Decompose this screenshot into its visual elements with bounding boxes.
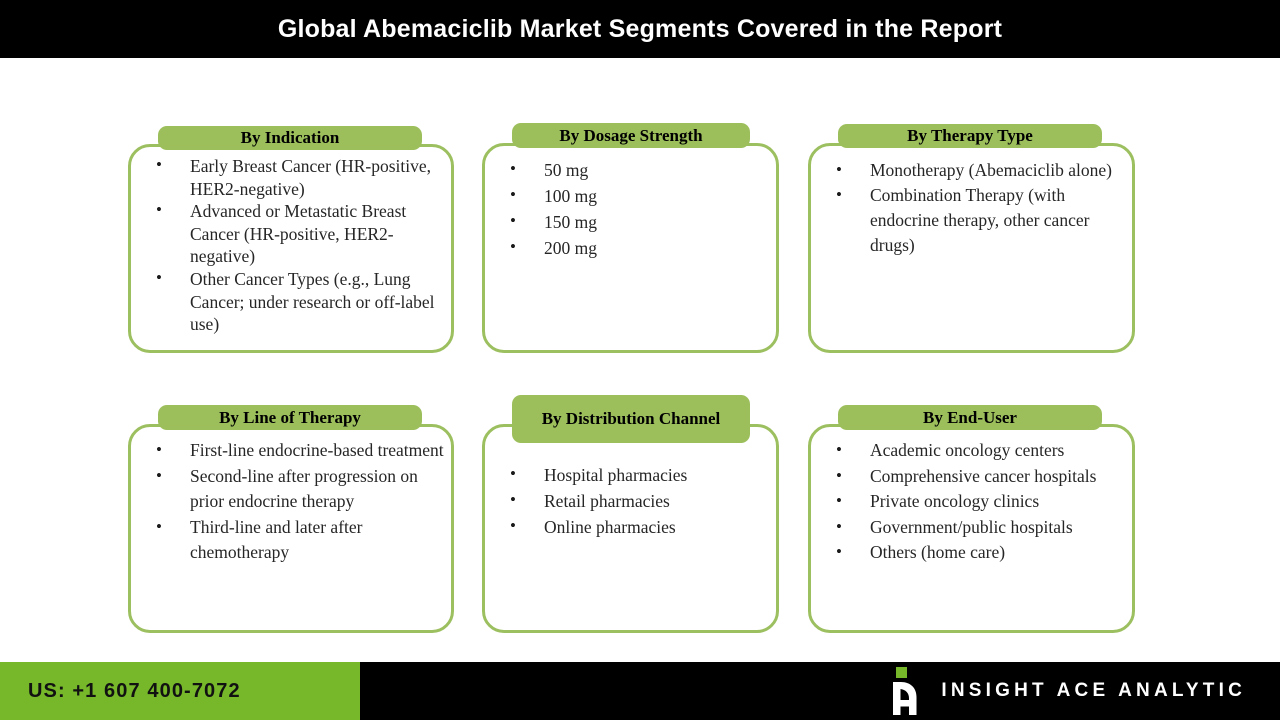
card-title-by-end-user: By End-User	[923, 408, 1017, 427]
card-body-by-end-user: Academic oncology centers Comprehensive …	[814, 438, 1134, 566]
list-item: Government/public hospitals	[814, 515, 1134, 541]
list-item: Private oncology clinics	[814, 489, 1134, 515]
list-item: Comprehensive cancer hospitals	[814, 464, 1134, 490]
brand-lockup: INSIGHT ACE ANALYTIC	[883, 662, 1246, 720]
title-bar: Global Abemaciclib Market Segments Cover…	[0, 0, 1280, 58]
bullet-list-by-therapy-type: Monotherapy (Abemaciclib alone) Combinat…	[814, 158, 1134, 258]
card-header-by-end-user: By End-User	[838, 405, 1102, 430]
bullet-list-by-distribution-channel: Hospital pharmacies Retail pharmacies On…	[488, 462, 776, 540]
bullet-list-by-line-of-therapy: First-line endocrine-based treatment Sec…	[134, 438, 450, 566]
list-item: Other Cancer Types (e.g., Lung Cancer; u…	[134, 268, 450, 336]
page-title: Global Abemaciclib Market Segments Cover…	[0, 0, 1280, 58]
bullet-list-by-end-user: Academic oncology centers Comprehensive …	[814, 438, 1134, 566]
list-item: Advanced or Metastatic Breast Cancer (HR…	[134, 200, 450, 268]
list-item: Second-line after progression on prior e…	[134, 464, 450, 515]
card-title-by-line-of-therapy: By Line of Therapy	[219, 408, 361, 427]
card-body-by-line-of-therapy: First-line endocrine-based treatment Sec…	[134, 438, 450, 566]
list-item: Monotherapy (Abemaciclib alone)	[814, 158, 1134, 183]
card-title-by-indication: By Indication	[241, 128, 340, 147]
card-body-by-dosage-strength: 50 mg 100 mg 150 mg 200 mg	[488, 157, 776, 261]
bullet-list-by-dosage-strength: 50 mg 100 mg 150 mg 200 mg	[488, 157, 776, 261]
list-item: Academic oncology centers	[814, 438, 1134, 464]
list-item: Hospital pharmacies	[488, 462, 776, 488]
card-header-by-distribution-channel: By Distribution Channel	[512, 395, 750, 443]
card-body-by-distribution-channel: Hospital pharmacies Retail pharmacies On…	[488, 462, 776, 540]
list-item: 100 mg	[488, 183, 776, 209]
list-item: Early Breast Cancer (HR-positive, HER2-n…	[134, 155, 450, 200]
card-title-by-distribution-channel: By Distribution Channel	[542, 409, 721, 428]
list-item: 200 mg	[488, 235, 776, 261]
card-title-by-dosage-strength: By Dosage Strength	[559, 126, 702, 145]
card-body-by-indication: Early Breast Cancer (HR-positive, HER2-n…	[134, 155, 450, 336]
list-item: 50 mg	[488, 157, 776, 183]
list-item: Combination Therapy (with endocrine ther…	[814, 183, 1134, 258]
insight-ace-a-mark-icon	[883, 666, 925, 716]
footer-bar: US: +1 607 400-7072 INSIGHT ACE ANALYTIC	[0, 662, 1280, 720]
card-header-by-therapy-type: By Therapy Type	[838, 124, 1102, 148]
card-title-by-therapy-type: By Therapy Type	[907, 126, 1033, 145]
list-item: 150 mg	[488, 209, 776, 235]
list-item: Online pharmacies	[488, 514, 776, 540]
card-header-by-indication: By Indication	[158, 126, 422, 150]
footer-phone-number[interactable]: US: +1 607 400-7072	[28, 662, 241, 720]
list-item: Others (home care)	[814, 540, 1134, 566]
card-header-by-line-of-therapy: By Line of Therapy	[158, 405, 422, 430]
bullet-list-by-indication: Early Breast Cancer (HR-positive, HER2-n…	[134, 155, 450, 336]
list-item: First-line endocrine-based treatment	[134, 438, 450, 464]
list-item: Retail pharmacies	[488, 488, 776, 514]
list-item: Third-line and later after chemotherapy	[134, 515, 450, 566]
card-body-by-therapy-type: Monotherapy (Abemaciclib alone) Combinat…	[814, 158, 1134, 258]
brand-name: INSIGHT ACE ANALYTIC	[941, 680, 1246, 702]
card-header-by-dosage-strength: By Dosage Strength	[512, 123, 750, 148]
